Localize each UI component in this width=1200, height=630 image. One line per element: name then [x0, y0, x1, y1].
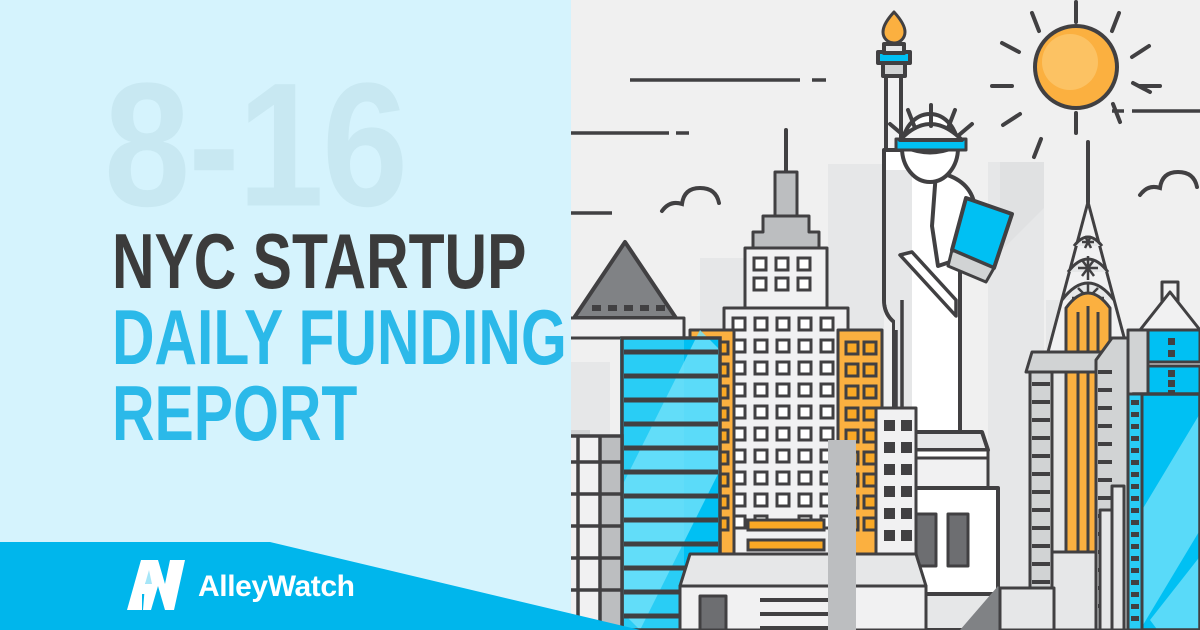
poster-canvas: .ln { fill:none; stroke:#414042; stroke-… [0, 0, 1200, 630]
left-text-panel: 8-16 NYC STARTUP DAILY FUNDING REPORT [0, 0, 571, 630]
date-watermark: 8-16 [104, 57, 406, 233]
aw-monogram-icon [125, 554, 187, 616]
headline-line-3: REPORT [112, 374, 357, 452]
alleywatch-logo[interactable]: AlleyWatch [125, 552, 355, 618]
headline-line-2: DAILY FUNDING [112, 298, 567, 376]
brand-wordmark: AlleyWatch [198, 570, 355, 604]
headline-line-1: NYC STARTUP [112, 222, 526, 300]
gray-column-accent [828, 440, 856, 630]
